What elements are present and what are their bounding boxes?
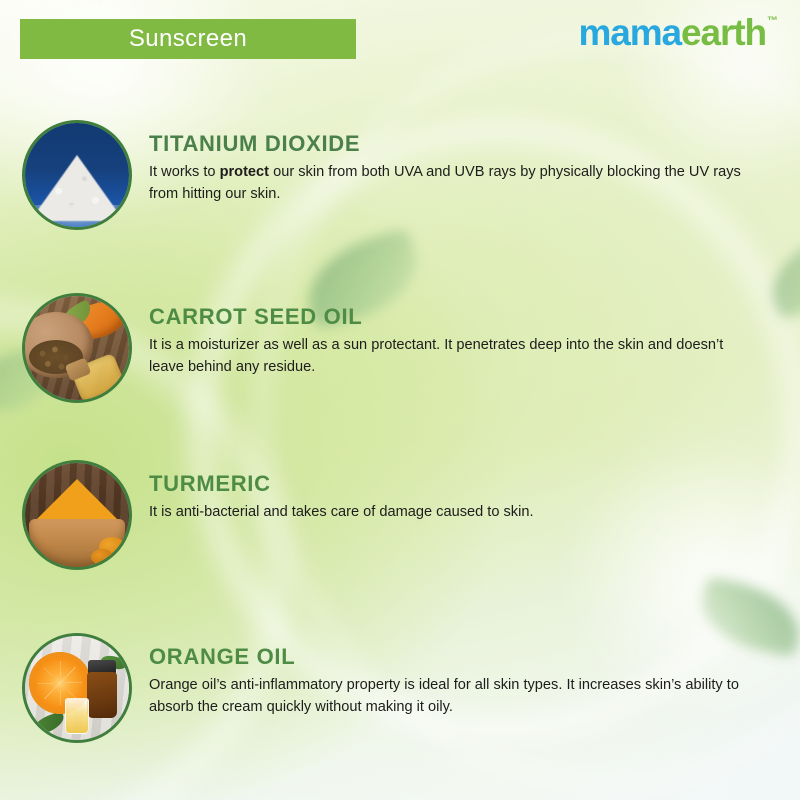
ingredient-copy: TITANIUM DIOXIDE It works to protect our… bbox=[149, 120, 779, 206]
ingredient-row: ORANGE OIL Orange oil’s anti-inflammator… bbox=[0, 633, 800, 743]
turmeric-powder-heap bbox=[33, 479, 121, 523]
page-title: Sunscreen bbox=[129, 27, 247, 51]
poster-header: Sunscreen mama earth ™ bbox=[0, 0, 800, 88]
ingredient-copy: TURMERIC It is anti-bacterial and takes … bbox=[149, 460, 779, 524]
trademark-icon: ™ bbox=[767, 16, 778, 27]
amber-bottle-shape bbox=[87, 672, 117, 718]
ingredient-description: Orange oil’s anti-inflammatory property … bbox=[149, 675, 757, 719]
ingredient-copy: ORANGE OIL Orange oil’s anti-inflammator… bbox=[149, 633, 779, 719]
ingredient-poster: Sunscreen mama earth ™ TITANIUM DIOXIDE … bbox=[0, 0, 800, 800]
ingredient-row: TURMERIC It is anti-bacterial and takes … bbox=[0, 460, 800, 570]
ingredient-title: TURMERIC bbox=[149, 472, 779, 495]
desc-part-before: It works to bbox=[149, 164, 220, 180]
ingredient-title: ORANGE OIL bbox=[149, 645, 779, 668]
ingredient-thumbnail-carrot-seed-oil bbox=[22, 293, 132, 403]
ingredient-row: TITANIUM DIOXIDE It works to protect our… bbox=[0, 120, 800, 230]
carrot-seed-oil-image bbox=[25, 296, 129, 400]
page-title-banner: Sunscreen bbox=[20, 19, 356, 59]
ingredient-description: It is a moisturizer as well as a sun pro… bbox=[149, 335, 757, 379]
ingredient-title: CARROT SEED OIL bbox=[149, 305, 779, 328]
ingredient-row: CARROT SEED OIL It is a moisturizer as w… bbox=[0, 293, 800, 403]
turmeric-root-shape bbox=[91, 549, 113, 565]
ingredient-thumbnail-turmeric bbox=[22, 460, 132, 570]
orange-oil-image bbox=[25, 636, 129, 740]
desc-part-bold: protect bbox=[220, 164, 269, 180]
turmeric-bowl-image bbox=[25, 463, 129, 567]
ingredient-thumbnail-orange-oil bbox=[22, 633, 132, 743]
ingredient-description: It is anti-bacterial and takes care of d… bbox=[149, 502, 757, 524]
titanium-dioxide-powder-image bbox=[25, 123, 129, 227]
brand-logo-earth: earth bbox=[681, 14, 766, 51]
ingredient-description: It works to protect our skin from both U… bbox=[149, 162, 757, 206]
ingredient-copy: CARROT SEED OIL It is a moisturizer as w… bbox=[149, 293, 779, 379]
powder-texture bbox=[31, 157, 123, 219]
ingredient-title: TITANIUM DIOXIDE bbox=[149, 132, 779, 155]
ingredient-thumbnail-titanium-dioxide bbox=[22, 120, 132, 230]
oil-vial-shape bbox=[65, 698, 89, 734]
brand-logo: mama earth ™ bbox=[578, 14, 778, 51]
brand-logo-mama: mama bbox=[578, 14, 681, 51]
